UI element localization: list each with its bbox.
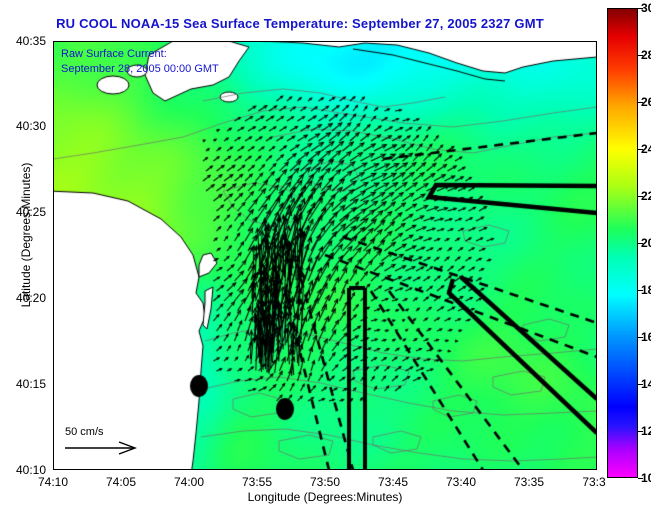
- colorbar-tick-mark-6: [638, 290, 643, 291]
- colorbar-tick-mark-8: [638, 384, 643, 385]
- x-tick-1: 74:05: [106, 475, 136, 489]
- x-axis-title: Longitude (Degrees:Minutes): [53, 490, 597, 504]
- sst-map-canvas: [53, 41, 597, 470]
- x-tick-5: 73:45: [378, 475, 408, 489]
- x-axis-tick-labels: 74:10 74:05 74:00 73:55 73:50 73:45 73:4…: [0, 471, 651, 491]
- colorbar-tick-mark-3: [638, 149, 643, 150]
- colorbar-tick-mark-9: [638, 431, 643, 432]
- figure-title: RU COOL NOAA-15 Sea Surface Temperature:…: [0, 16, 600, 31]
- y-axis-title: Latitude (Degrees:Minutes): [19, 115, 33, 355]
- colorbar-tick-mark-10: [638, 478, 643, 479]
- velocity-scale-bar: 50 cm/s: [63, 426, 173, 461]
- x-tick-6: 73:40: [446, 475, 476, 489]
- scale-bar-label: 50 cm/s: [63, 426, 173, 438]
- x-tick-4: 73:50: [310, 475, 340, 489]
- colorbar-gradient: [607, 8, 638, 478]
- current-annotation-line2: September 28, 2005 00:00 GMT: [61, 63, 219, 75]
- y-tick-4: 40:15: [16, 377, 46, 391]
- map-plot-area[interactable]: Raw Surface Current: September 28, 2005 …: [53, 41, 597, 470]
- colorbar-tick-mark-4: [638, 196, 643, 197]
- x-tick-2: 74:00: [174, 475, 204, 489]
- x-tick-0: 74:10: [38, 475, 68, 489]
- sst-map-figure: RU COOL NOAA-15 Sea Surface Temperature:…: [0, 0, 651, 518]
- scale-arrow-icon: [63, 440, 143, 456]
- current-annotation-line1: Raw Surface Current:: [61, 48, 167, 60]
- colorbar-tick-mark-2: [638, 102, 643, 103]
- y-tick-0: 40:35: [16, 34, 46, 48]
- colorbar-tick-mark-7: [638, 337, 643, 338]
- x-tick-7: 73:35: [514, 475, 544, 489]
- colorbar-tick-mark-0: [638, 8, 643, 9]
- colorbar-tick-mark-5: [638, 243, 643, 244]
- x-tick-8: 73:3: [582, 475, 605, 489]
- colorbar: [607, 8, 638, 478]
- x-tick-3: 73:55: [242, 475, 272, 489]
- colorbar-tick-mark-1: [638, 55, 643, 56]
